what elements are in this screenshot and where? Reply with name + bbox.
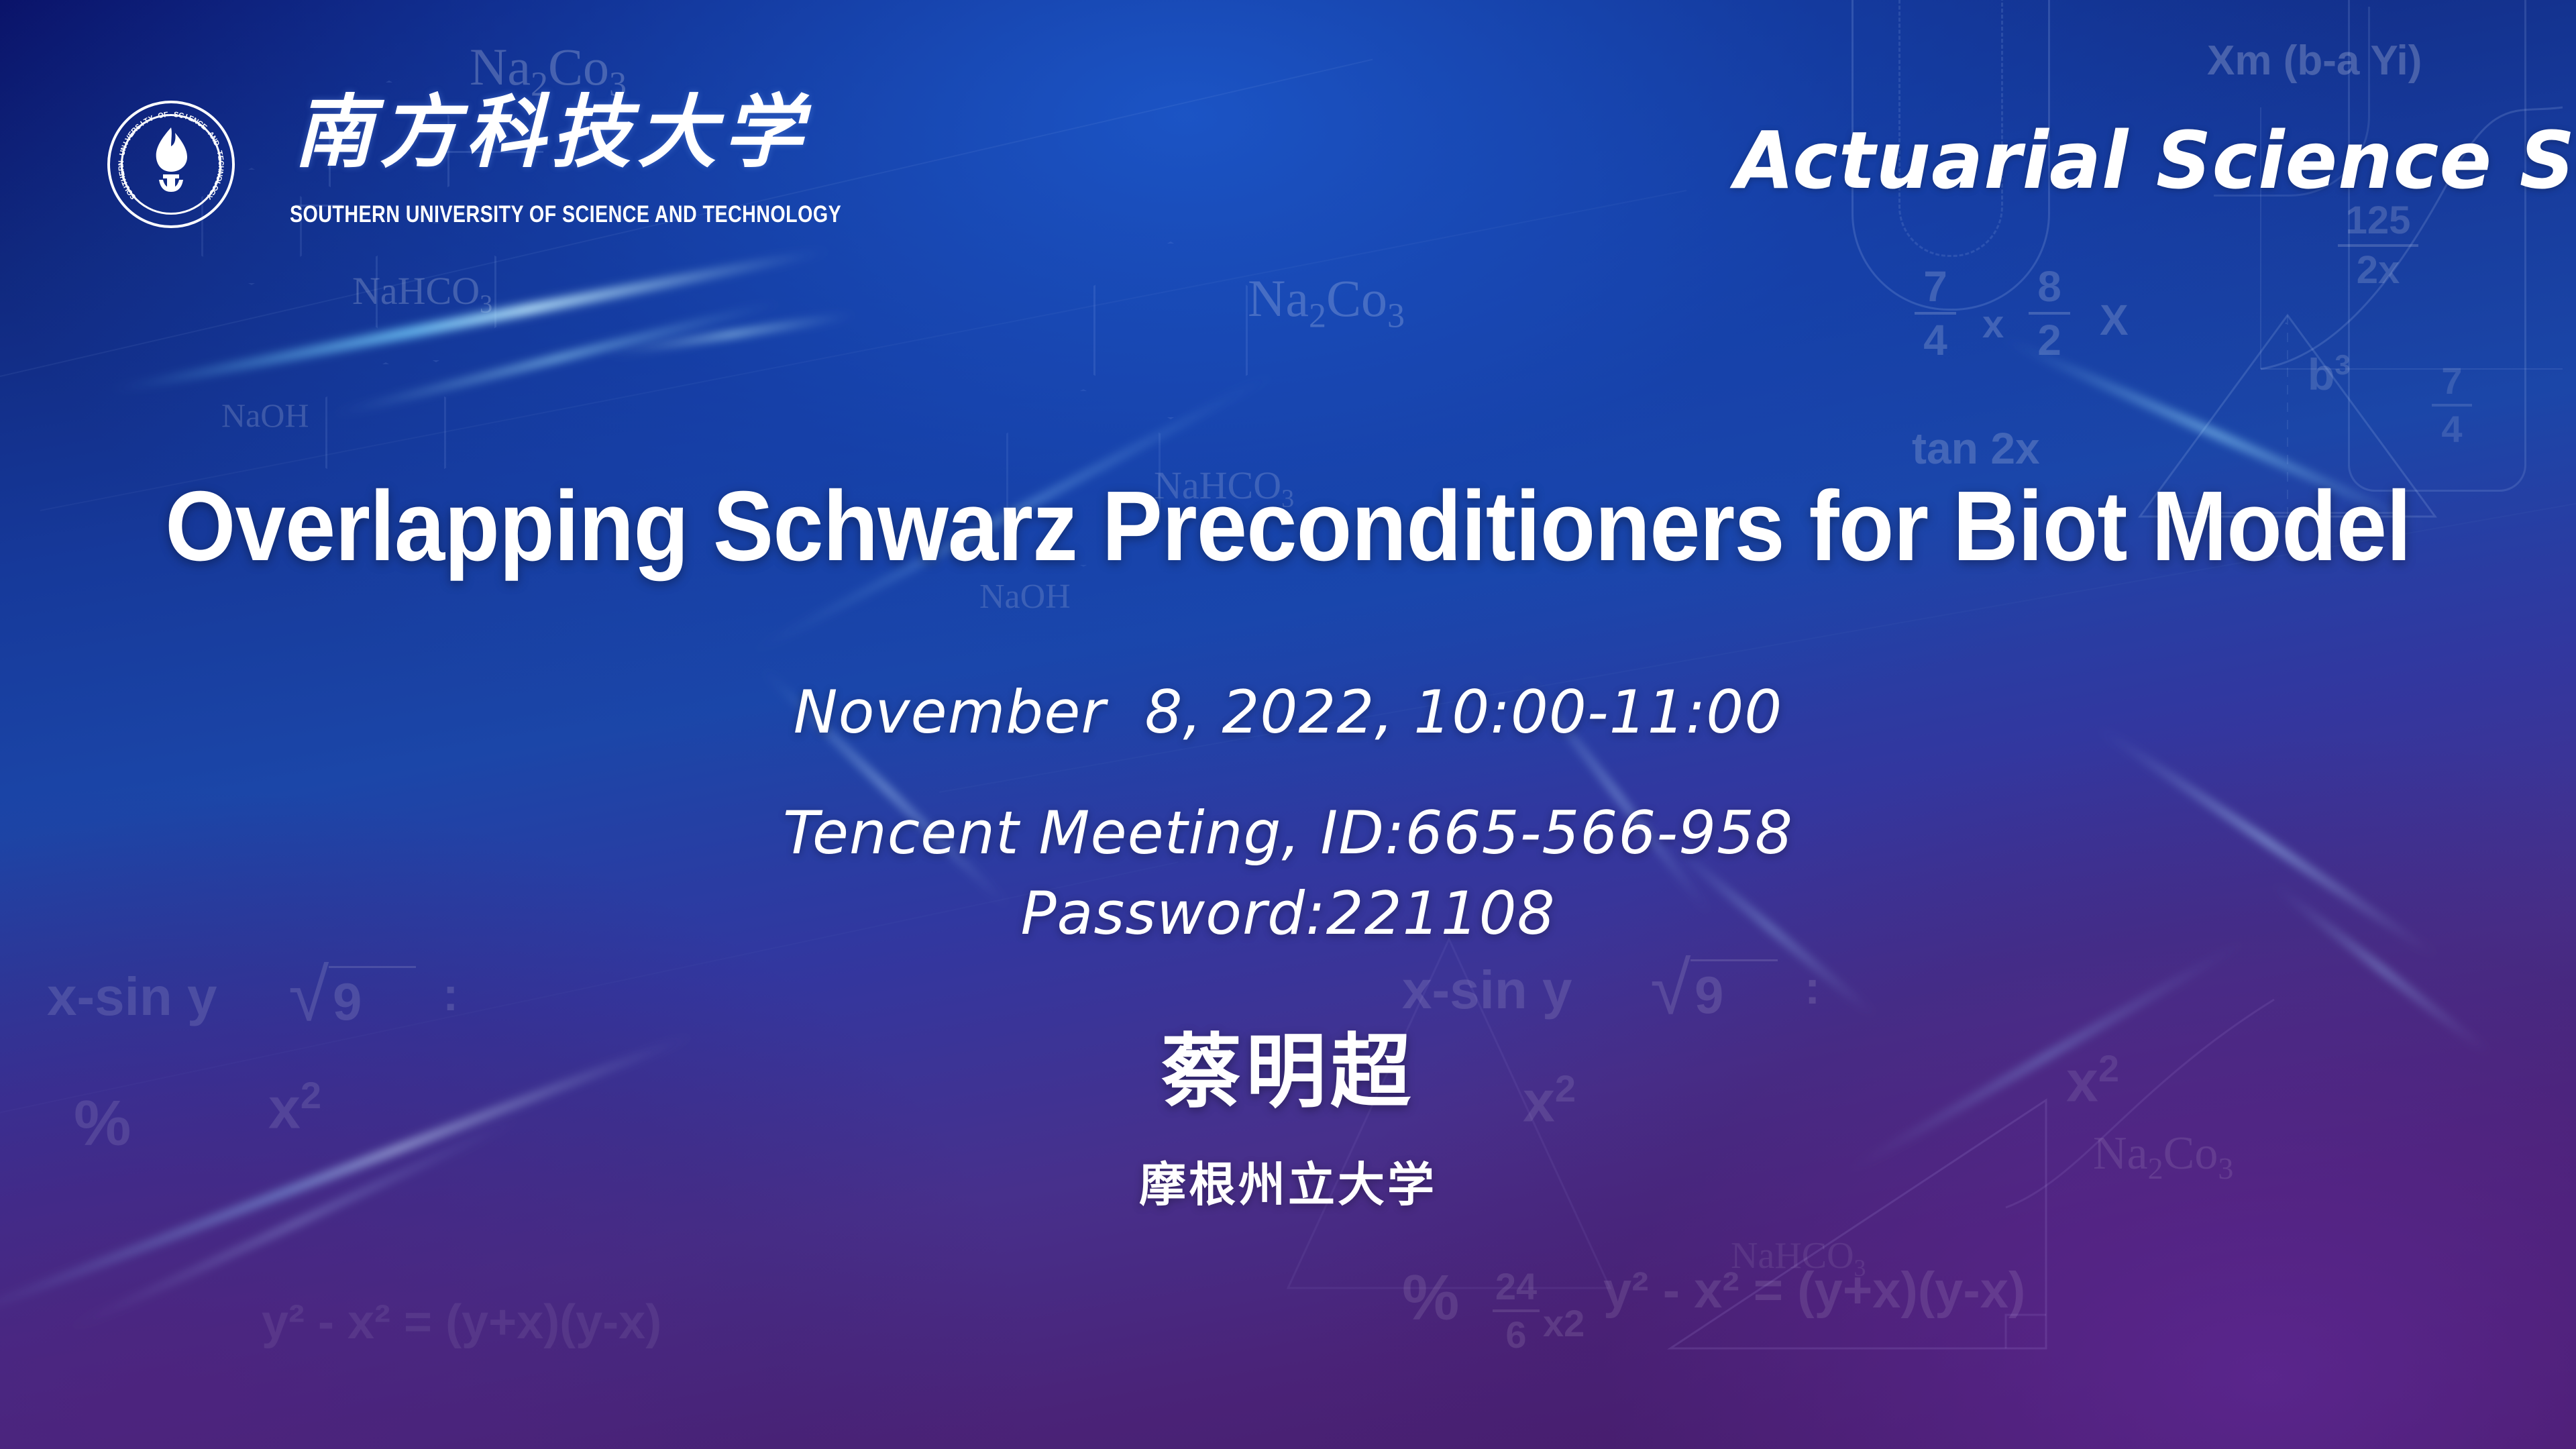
watermark-math: %	[1402, 1261, 1459, 1335]
fraction-watermark: 82	[2026, 265, 2073, 362]
fraction-watermark: 1252x	[2334, 201, 2422, 290]
watermark-math: X	[2100, 295, 2129, 345]
speaker-name: 蔡明超	[0, 1006, 2576, 1123]
watermark-math: x	[1982, 302, 2004, 347]
fraction-watermark: 74	[2428, 362, 2475, 448]
watermark-math: y² - x² = (y+x)(y-x)	[1603, 1261, 2025, 1320]
hexagon-shape	[1093, 241, 1248, 419]
light-streak	[107, 245, 833, 396]
seminar-series-label: Actuarial Science Seminar	[1735, 114, 2576, 207]
watermark-math: b3	[2308, 349, 2351, 400]
watermark-math: y² - x² = (y+x)(y-x)	[262, 1295, 661, 1350]
guide-line	[40, 190, 1686, 511]
watermark-chem: NaHCO3	[352, 268, 492, 319]
watermark-chem: NaOH	[221, 396, 309, 435]
watermark-math: tan 2x	[1912, 423, 2040, 474]
speaker-affiliation: 摩根州立大学	[0, 1147, 2576, 1215]
light-streak	[605, 312, 857, 356]
talk-title: Overlapping Schwarz Preconditioners for …	[109, 470, 2467, 584]
fraction-watermark: 246	[1489, 1268, 1543, 1354]
university-name-cn: 南方科技大学	[294, 94, 809, 173]
university-seal: SOUTHERN UNIVERSITY OF SCIENCE AND TECHN…	[107, 101, 235, 228]
watermark-math: Xm (b-a Yi)	[2207, 37, 2422, 85]
meeting-info: Tencent Meeting, ID:665-566-958	[0, 798, 2576, 867]
seminar-poster: Na2Co3 NaHCO3 NaOH Na2Co3 NaHCO3 NaOH Na…	[0, 0, 2576, 1449]
hexagon-shape	[376, 221, 496, 362]
watermark-chem: NaHCO3	[1731, 1234, 1866, 1282]
watermark-chem: Na2Co3	[1248, 268, 1405, 336]
watermark-math: x2	[1543, 1301, 1585, 1345]
talk-datetime: November 8, 2022, 10:00-11:00	[0, 678, 2576, 747]
flask-outline	[2348, 0, 2526, 492]
meeting-password: Password:221108	[0, 879, 2576, 948]
light-streak	[328, 299, 785, 418]
university-name-en: SOUTHERN UNIVERSITY OF SCIENCE AND TECHN…	[290, 201, 841, 228]
fraction-watermark: 74	[1912, 265, 1959, 362]
torch-flame-icon	[140, 122, 202, 196]
